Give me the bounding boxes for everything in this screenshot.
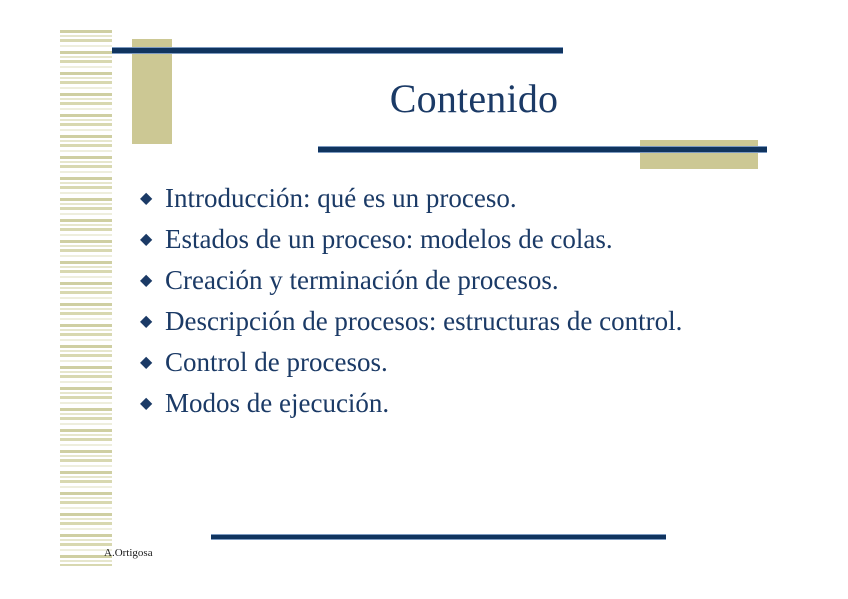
- diamond-bullet-icon: ◆: [140, 264, 160, 297]
- khaki-accent-block: [640, 140, 758, 169]
- left-striped-decoration: [60, 30, 112, 566]
- diamond-bullet-icon: ◆: [140, 305, 160, 338]
- list-item: ◆ Creación y terminación de procesos.: [140, 264, 740, 297]
- list-item: ◆ Descripción de procesos: estructuras d…: [140, 305, 740, 338]
- list-item-label: Creación y terminación de procesos.: [165, 264, 740, 297]
- footer-author-label: A.Ortigosa: [104, 546, 153, 560]
- list-item: ◆ Control de procesos.: [140, 346, 740, 379]
- footer-horizontal-rule: [211, 535, 666, 539]
- contents-bullet-list: ◆ Introducción: qué es un proceso. ◆ Est…: [140, 182, 740, 428]
- list-item-label: Modos de ejecución.: [165, 387, 740, 420]
- presentation-slide: Contenido ◆ Introducción: qué es un proc…: [0, 0, 848, 599]
- list-item: ◆ Modos de ejecución.: [140, 387, 740, 420]
- list-item: ◆ Introducción: qué es un proceso.: [140, 182, 740, 215]
- list-item-label: Introducción: qué es un proceso.: [165, 182, 740, 215]
- list-item: ◆ Estados de un proceso: modelos de cola…: [140, 223, 740, 256]
- top-horizontal-rule: [112, 48, 563, 53]
- diamond-bullet-icon: ◆: [140, 346, 160, 379]
- list-item-label: Estados de un proceso: modelos de colas.: [165, 223, 740, 256]
- list-item-label: Control de procesos.: [165, 346, 740, 379]
- diamond-bullet-icon: ◆: [140, 182, 160, 215]
- list-item-label: Descripción de procesos: estructuras de …: [165, 305, 740, 338]
- page-title: Contenido: [180, 76, 768, 122]
- title-underline-rule: [318, 147, 767, 152]
- khaki-vertical-block: [132, 39, 172, 144]
- diamond-bullet-icon: ◆: [140, 223, 160, 256]
- diamond-bullet-icon: ◆: [140, 387, 160, 420]
